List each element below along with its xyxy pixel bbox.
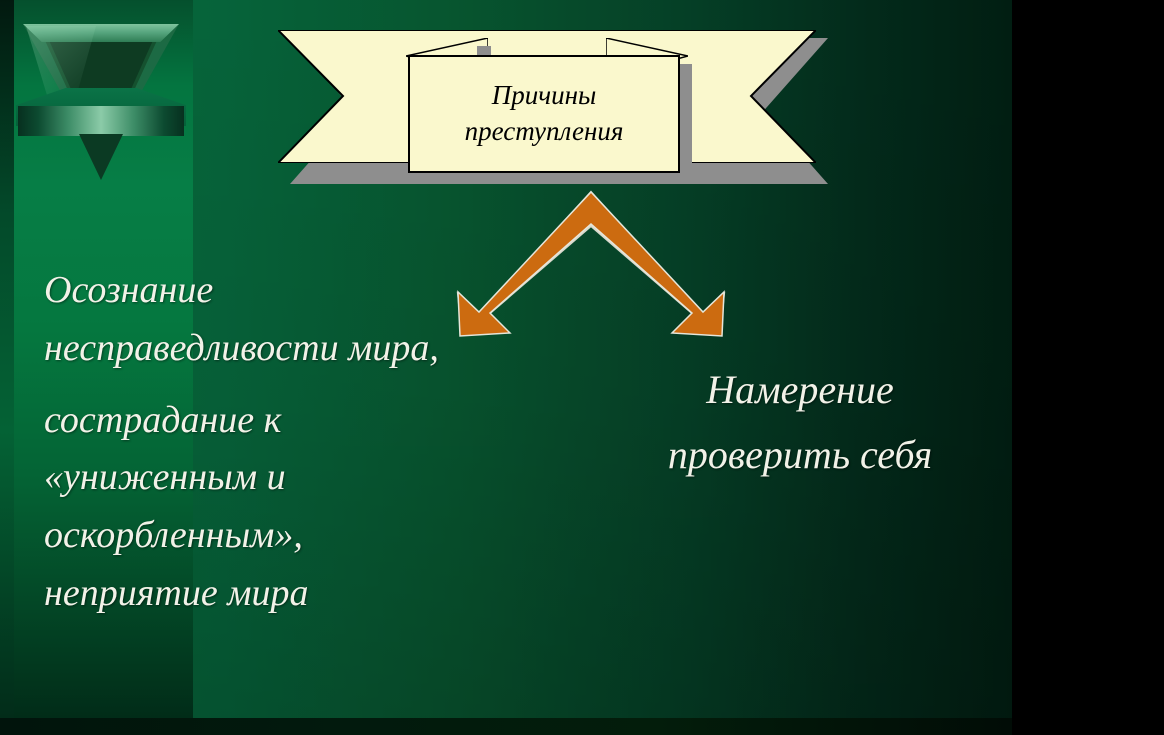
presentation-slide: Причины преступления Осознание несправед… (0, 0, 1164, 735)
left-text-block: Осознание несправедливости мира, сострад… (44, 262, 459, 623)
slide-bottom-strip (0, 718, 1012, 735)
left-text-paragraph-2: сострадание к «униженным и оскорбленным»… (44, 392, 459, 623)
left-text-paragraph-1: Осознание несправедливости мира, (44, 262, 459, 378)
pyramid-horizontal-bar (18, 106, 184, 136)
banner-title-line-2: преступления (465, 114, 624, 150)
slide-right-black-margin (1012, 0, 1164, 735)
right-text-block: Намерение проверить себя (600, 358, 1000, 488)
right-text-line-1: Намерение (600, 358, 1000, 423)
banner-title-box: Причины преступления (408, 55, 680, 173)
ribbon-center-nub (477, 46, 491, 55)
pyramid-lower-spike (79, 134, 123, 180)
pyramid-logo-icon (6, 6, 196, 181)
right-text-line-2: проверить себя (600, 423, 1000, 488)
banner-title-line-1: Причины (492, 78, 597, 114)
double-down-arrow-icon (452, 186, 730, 338)
